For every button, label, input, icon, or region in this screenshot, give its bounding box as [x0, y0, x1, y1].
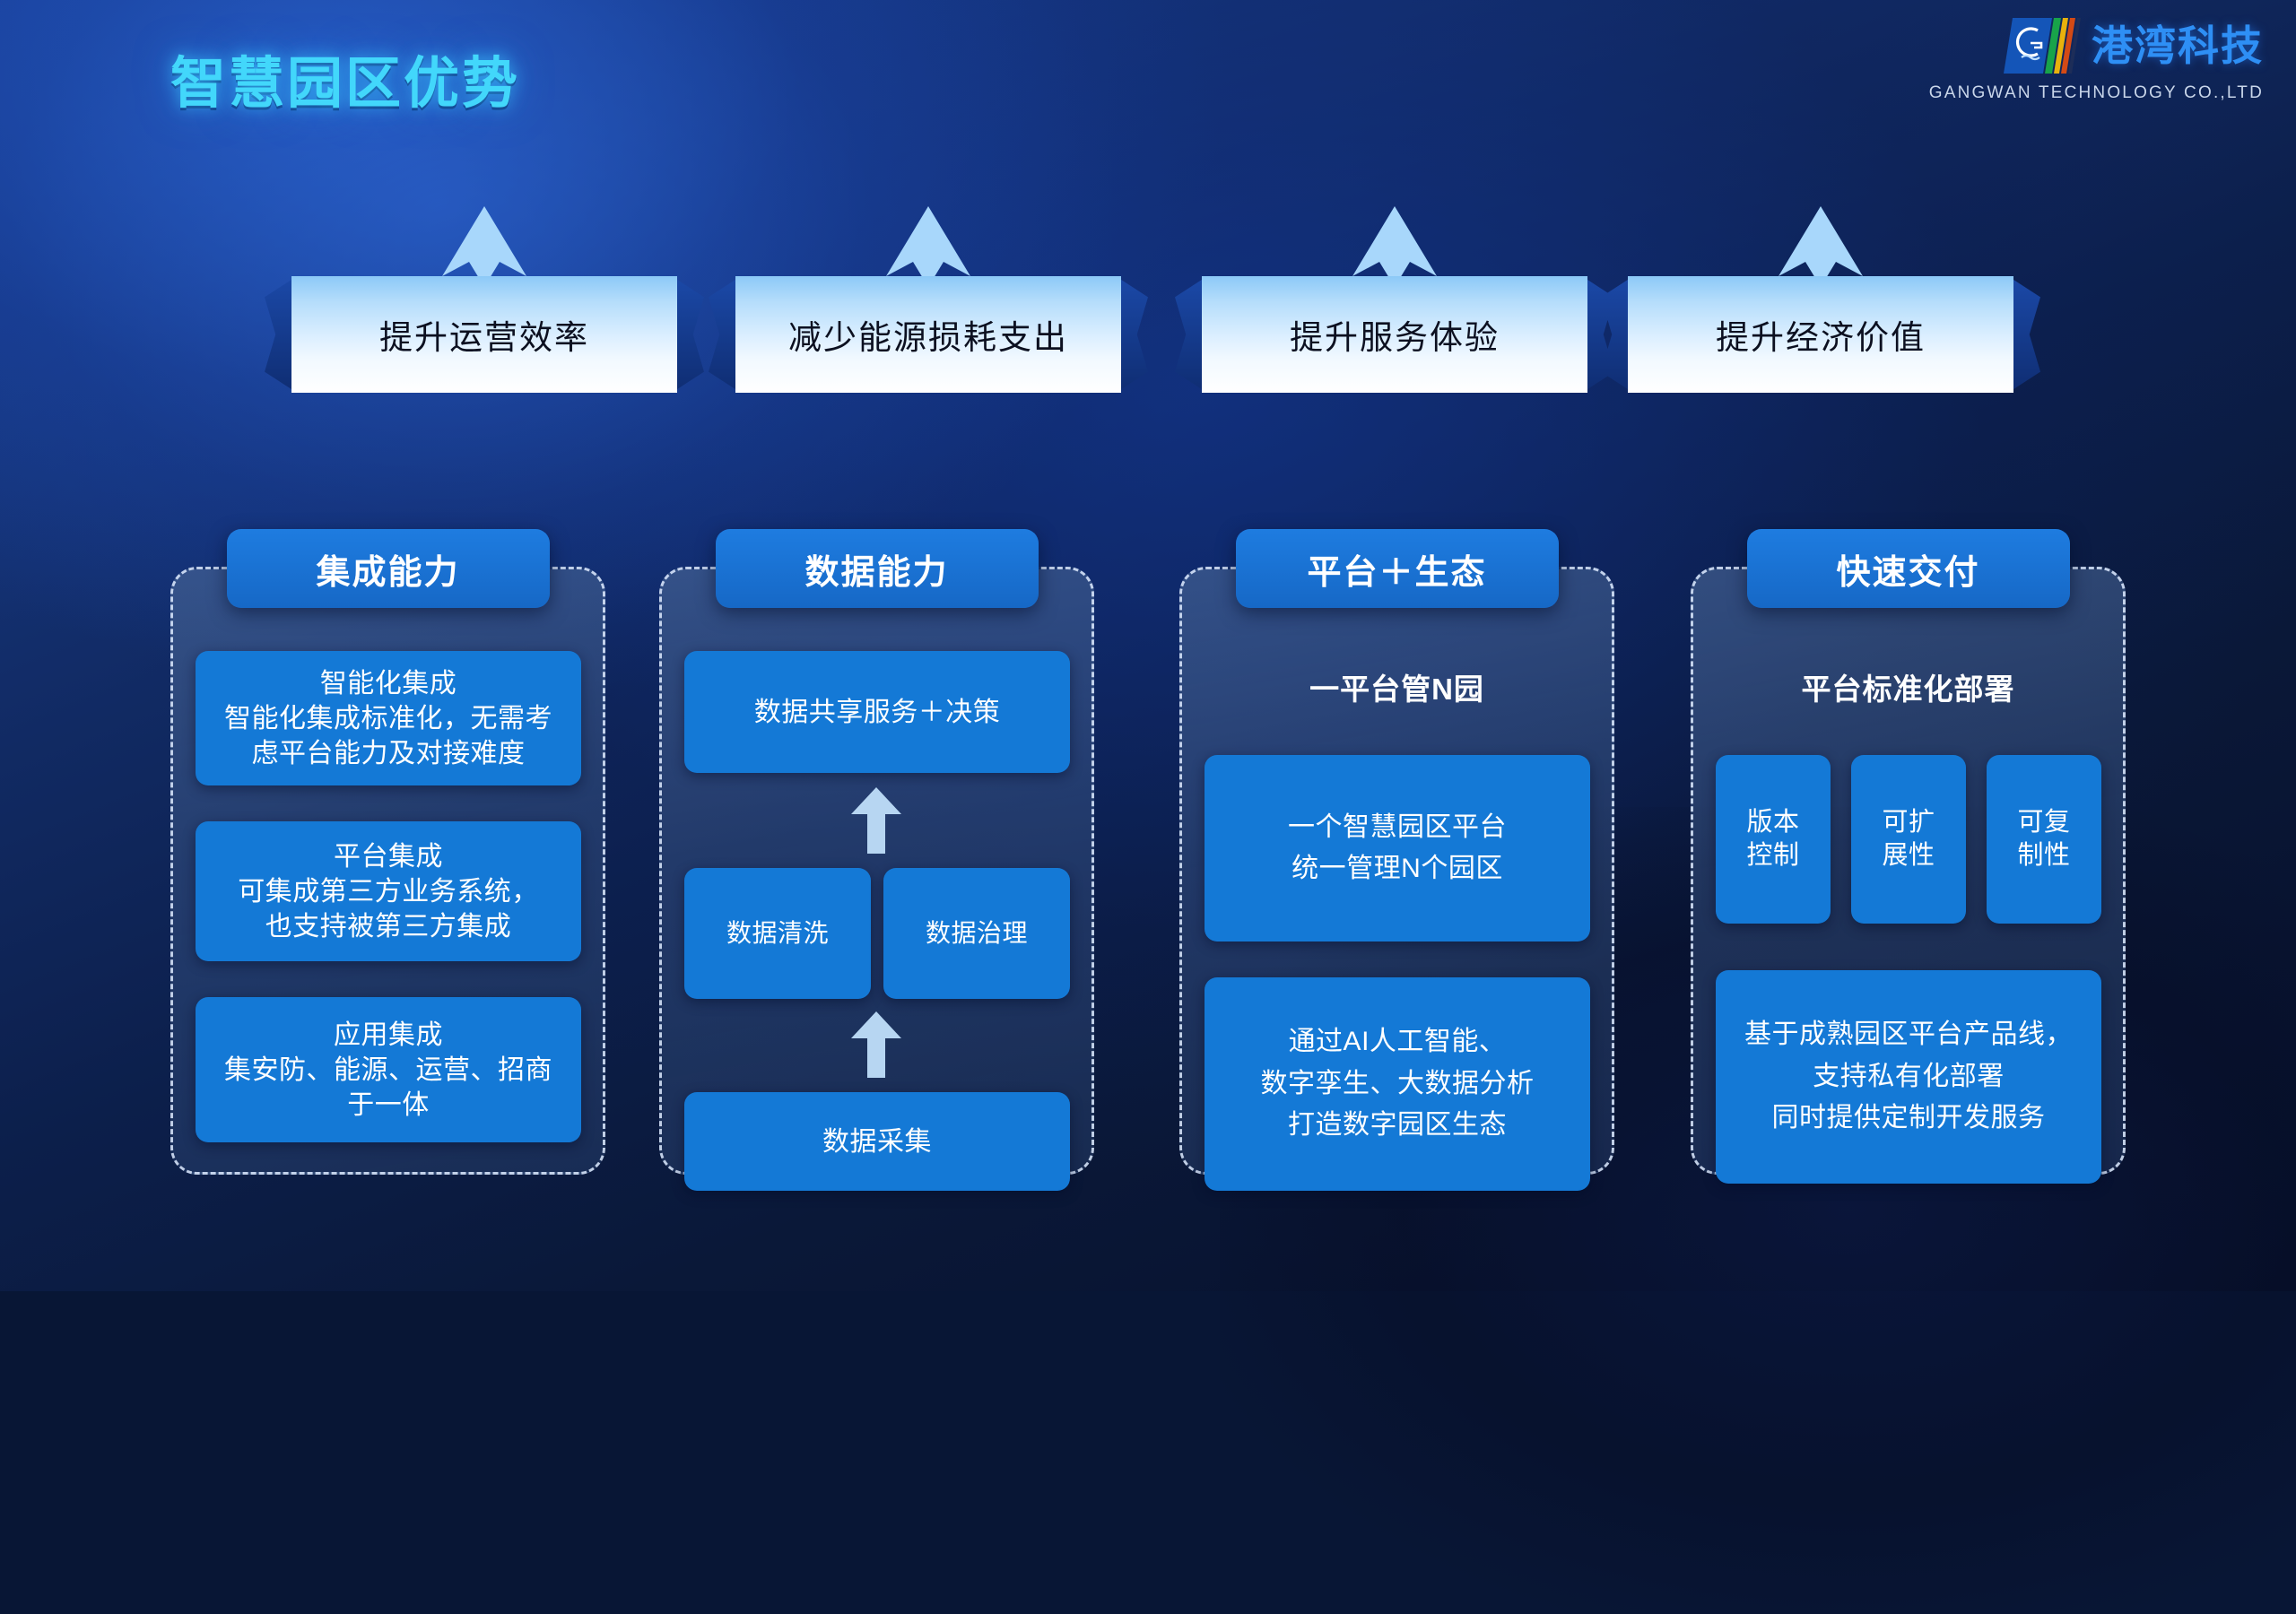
slide-background: 智慧园区优势 港湾科技 GANGWAN TECHNOLOGY CO.,LTD	[0, 0, 2296, 1291]
column-body: 智能化集成 智能化集成标准化，无需考 虑平台能力及对接难度 平台集成 可集成第三…	[170, 567, 605, 1175]
feature-chip[interactable]: 版本 控制	[1716, 755, 1831, 924]
company-logo: 港湾科技 GANGWAN TECHNOLOGY CO.,LTD	[1929, 16, 2264, 103]
feature-line: 统一管理N个园区	[1291, 848, 1503, 890]
feature-line: 平台集成	[334, 839, 443, 874]
feature-line: 制性	[2017, 839, 2070, 872]
benefit-ribbon-1[interactable]: 提升运营效率	[291, 206, 677, 439]
feature-line: 通过AI人工智能、	[1289, 1021, 1507, 1063]
feature-line: 应用集成	[334, 1018, 443, 1053]
column-body: 一平台管N园 一个智慧园区平台 统一管理N个园区 通过AI人工智能、 数字孪生、…	[1179, 567, 1614, 1175]
feature-box[interactable]: 平台集成 可集成第三方业务系统， 也支持被第三方集成	[196, 821, 581, 961]
feature-line: 支持私有化部署	[1813, 1056, 2005, 1098]
feature-line: 数字孪生、大数据分析	[1261, 1063, 1535, 1106]
feature-line: 可集成第三方业务系统，	[238, 874, 539, 909]
column-header-badge[interactable]: 平台＋生态	[1236, 529, 1559, 608]
feature-box[interactable]: 应用集成 集安防、能源、运营、招商 于一体	[196, 997, 581, 1142]
feature-line: 可复	[2017, 806, 2070, 839]
benefit-ribbon-row: 提升运营效率 减少能源损耗支出 提升服务体验	[0, 206, 2296, 439]
feature-line: 控制	[1746, 839, 1799, 872]
page-title: 智慧园区优势	[170, 38, 520, 118]
feature-box[interactable]: 数据治理	[883, 868, 1070, 999]
feature-line: 虑平台能力及对接难度	[252, 736, 526, 771]
feature-line: 打造数字园区生态	[1288, 1105, 1507, 1147]
benefit-ribbon-3[interactable]: 提升服务体验	[1202, 206, 1587, 439]
feature-line: 智能化集成	[320, 666, 457, 701]
feature-box[interactable]: 数据共享服务＋决策	[684, 651, 1070, 773]
capability-columns: 集成能力 智能化集成 智能化集成标准化，无需考 虑平台能力及对接难度 平台集成 …	[0, 529, 2296, 1175]
feature-line: 基于成熟园区平台产品线，	[1744, 1014, 2073, 1056]
feature-box[interactable]: 数据清洗	[684, 868, 871, 999]
column-header-label: 快速交付	[1836, 544, 1979, 594]
ribbon-label: 减少能源损耗支出	[788, 310, 1068, 359]
column-header-label: 平台＋生态	[1307, 544, 1486, 594]
column-header-badge[interactable]: 数据能力	[716, 529, 1039, 608]
column-body: 数据共享服务＋决策 数据清洗 数据治理 数据采集	[659, 567, 1094, 1175]
ribbon-plate: 提升运营效率	[291, 276, 677, 393]
feature-line: 版本	[1746, 806, 1799, 839]
ribbon-plate: 提升服务体验	[1202, 276, 1587, 393]
feature-chip[interactable]: 可扩 展性	[1851, 755, 1966, 924]
column-header-label: 集成能力	[316, 544, 459, 594]
feature-box[interactable]: 基于成熟园区平台产品线， 支持私有化部署 同时提供定制开发服务	[1716, 970, 2101, 1184]
feature-line: 数据共享服务＋决策	[754, 695, 1001, 730]
ribbon-label: 提升运营效率	[379, 310, 589, 359]
benefit-ribbon-2[interactable]: 减少能源损耗支出	[735, 206, 1121, 439]
feature-line: 集安防、能源、运营、招商	[224, 1053, 552, 1088]
feature-line: 数据清洗	[726, 917, 829, 950]
logo-company-name: 港湾科技	[2092, 25, 2264, 66]
column-header-badge[interactable]: 快速交付	[1747, 529, 2070, 608]
feature-line: 智能化集成标准化，无需考	[224, 701, 552, 736]
feature-line: 同时提供定制开发服务	[1772, 1098, 2046, 1140]
column-subtitle: 一平台管N园	[1179, 665, 1614, 708]
feature-box[interactable]: 数据采集	[684, 1092, 1070, 1191]
gangwan-logo-icon	[2004, 16, 2081, 75]
feature-line: 于一体	[347, 1088, 430, 1123]
flow-up-arrow-icon	[851, 1011, 901, 1078]
feature-line: 展性	[1882, 839, 1935, 872]
column-subtitle: 平台标准化部署	[1691, 665, 2126, 708]
flow-up-arrow-icon	[851, 787, 901, 854]
feature-line: 也支持被第三方集成	[265, 909, 512, 944]
feature-box[interactable]: 通过AI人工智能、 数字孪生、大数据分析 打造数字园区生态	[1205, 977, 1590, 1191]
ribbon-label: 提升服务体验	[1290, 310, 1500, 359]
column-header-label: 数据能力	[804, 544, 948, 594]
ribbon-plate: 提升经济价值	[1628, 276, 2013, 393]
feature-line: 可扩	[1882, 806, 1935, 839]
ribbon-plate: 减少能源损耗支出	[735, 276, 1121, 393]
logo-company-subtitle: GANGWAN TECHNOLOGY CO.,LTD	[1929, 83, 2264, 103]
feature-line: 数据采集	[822, 1124, 932, 1159]
column-body: 平台标准化部署 版本 控制 可扩 展性 可复 制性 基于成熟园区平台产品线， 支…	[1691, 567, 2126, 1175]
feature-box[interactable]: 一个智慧园区平台 统一管理N个园区	[1205, 755, 1590, 941]
column-header-badge[interactable]: 集成能力	[227, 529, 550, 608]
ribbon-label: 提升经济价值	[1716, 310, 1926, 359]
feature-box[interactable]: 智能化集成 智能化集成标准化，无需考 虑平台能力及对接难度	[196, 651, 581, 785]
feature-line: 数据治理	[926, 917, 1028, 950]
logo-row: 港湾科技	[2004, 16, 2264, 75]
feature-line: 一个智慧园区平台	[1288, 807, 1507, 849]
benefit-ribbon-4[interactable]: 提升经济价值	[1628, 206, 2013, 439]
feature-chip[interactable]: 可复 制性	[1987, 755, 2101, 924]
